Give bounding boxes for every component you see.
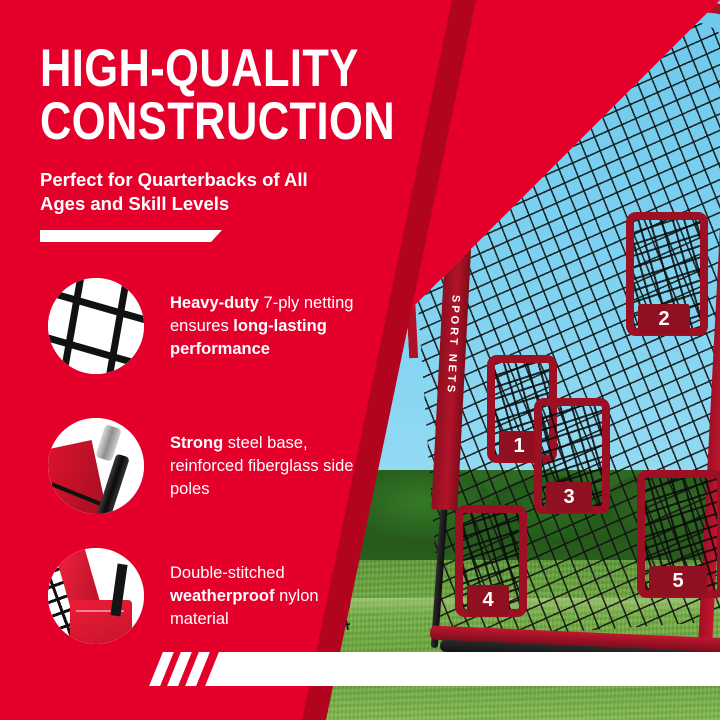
- target-pocket-5: 5: [637, 470, 720, 598]
- footer-stripe: [0, 630, 720, 720]
- feature-text-2: Strong steel base, reinforced fiberglass…: [170, 432, 375, 500]
- target-pocket-4: 4: [455, 505, 527, 617]
- subheadline-line-2: Ages and Skill Levels: [40, 192, 340, 216]
- target-number-3: 3: [546, 482, 592, 512]
- feature-text-1: Heavy-duty 7-ply netting ensures long-la…: [170, 292, 375, 360]
- target-pocket-2: 2: [626, 212, 708, 336]
- stripe-bar: [205, 652, 720, 686]
- steel-pole-closeup-icon: [48, 418, 144, 514]
- target-number-2: 2: [638, 304, 690, 334]
- feature-text-3: Double-stitched weatherproof nylon mater…: [170, 562, 375, 630]
- brand-label: SPORT NETS: [444, 295, 461, 396]
- target-number-1: 1: [499, 431, 539, 461]
- target-number-5: 5: [649, 566, 707, 596]
- headline-line-1: HIGH-QUALITY: [40, 45, 311, 94]
- page-title: HIGH-QUALITY CONSTRUCTION: [40, 45, 370, 147]
- headline-line-2: CONSTRUCTION: [40, 98, 311, 147]
- title-underline-bar: [40, 230, 222, 242]
- subheadline-line-1: Perfect for Quarterbacks of All: [40, 168, 340, 192]
- target-pocket-3: 3: [534, 398, 610, 514]
- marketing-banner: SPORT NETS 12345 HIGH-QUALITY CONSTRUCTI…: [0, 0, 720, 720]
- netting-closeup-icon: [48, 278, 144, 374]
- subheadline: Perfect for Quarterbacks of All Ages and…: [40, 168, 340, 215]
- target-number-4: 4: [467, 585, 509, 615]
